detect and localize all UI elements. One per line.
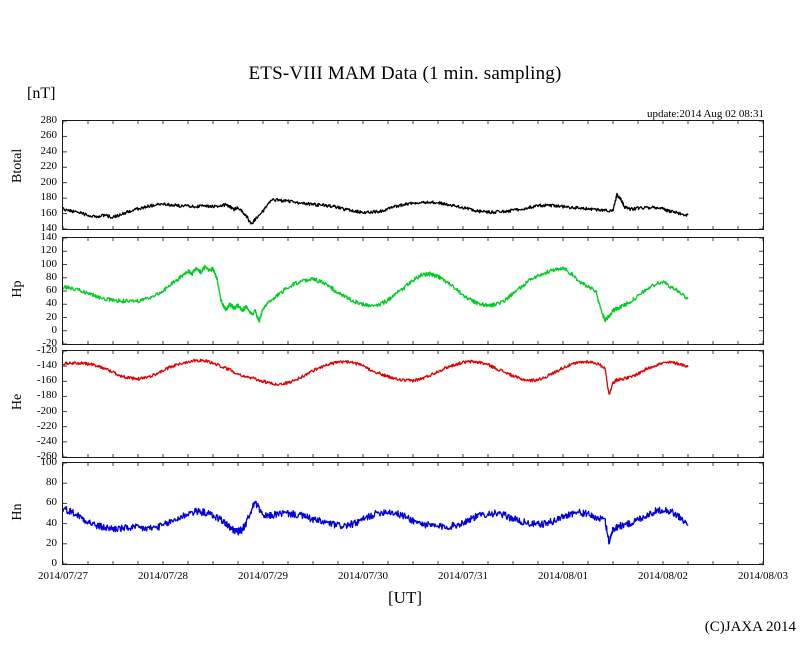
x-tick-label-0: 2014/07/27 [18,571,108,582]
plot-panel-hp [62,237,764,345]
x-tick-label-2: 2014/07/29 [218,571,308,582]
y-tick-label-hp-6: 20 [46,312,57,323]
panel-axis-label-hp: Hp [10,279,26,299]
x-tick-label-3: 2014/07/30 [318,571,408,582]
y-tick-label-btotal-1: 260 [41,130,58,141]
y-tick-label-he-3: -180 [37,390,57,401]
trace-hp [63,238,763,344]
chart-title: ETS-VIII MAM Data (1 min. sampling) [0,63,810,85]
y-axis-unit-label: [nT] [27,85,55,103]
panel-axis-label-he: He [10,392,26,412]
trace-btotal [63,121,763,229]
x-tick-label-5: 2014/08/01 [518,571,608,582]
trace-hn [63,463,763,564]
y-tick-label-btotal-0: 280 [41,115,58,126]
x-tick-label-1: 2014/07/28 [118,571,208,582]
x-axis-title: [UT] [0,588,810,608]
trace-he [63,351,763,457]
x-tick-label-7: 2014/08/03 [718,571,808,582]
y-tick-label-hp-5: 40 [46,298,57,309]
y-tick-label-hn-0: 100 [41,457,58,468]
plot-panel-btotal [62,120,764,230]
panel-axis-label-hn: Hn [10,502,26,522]
y-tick-label-he-6: -240 [37,436,57,447]
copyright-label: (C)JAXA 2014 [705,619,796,636]
y-tick-label-hp-0: 140 [41,232,58,243]
y-tick-label-hn-5: 0 [52,558,58,569]
y-tick-label-btotal-2: 240 [41,146,58,157]
y-tick-label-btotal-3: 220 [41,161,58,172]
y-tick-label-hp-4: 60 [46,285,57,296]
y-tick-label-he-1: -140 [37,360,57,371]
y-tick-label-btotal-4: 200 [41,177,58,188]
y-tick-label-hn-3: 40 [46,518,57,529]
y-tick-label-he-4: -200 [37,406,57,417]
x-tick-label-4: 2014/07/31 [418,571,508,582]
chart-page: ETS-VIII MAM Data (1 min. sampling) [nT]… [0,0,810,655]
y-tick-label-hp-1: 120 [41,245,58,256]
y-tick-label-hp-2: 100 [41,259,58,270]
plot-panel-hn [62,462,764,565]
y-tick-label-he-0: -120 [37,345,57,356]
y-tick-label-he-2: -160 [37,375,57,386]
y-tick-label-hp-7: 0 [52,325,58,336]
x-tick-label-6: 2014/08/02 [618,571,708,582]
y-tick-label-hp-3: 80 [46,272,57,283]
y-tick-label-hn-4: 20 [46,538,57,549]
plot-panel-he [62,350,764,458]
y-tick-label-hn-1: 80 [46,477,57,488]
y-tick-label-he-5: -220 [37,421,57,432]
y-tick-label-hn-2: 60 [46,497,57,508]
y-tick-label-btotal-6: 160 [41,208,58,219]
y-tick-label-btotal-5: 180 [41,192,58,203]
update-timestamp-label: update:2014 Aug 02 08:31 [647,108,764,120]
panel-axis-label-btotal: Btotal [10,163,26,183]
